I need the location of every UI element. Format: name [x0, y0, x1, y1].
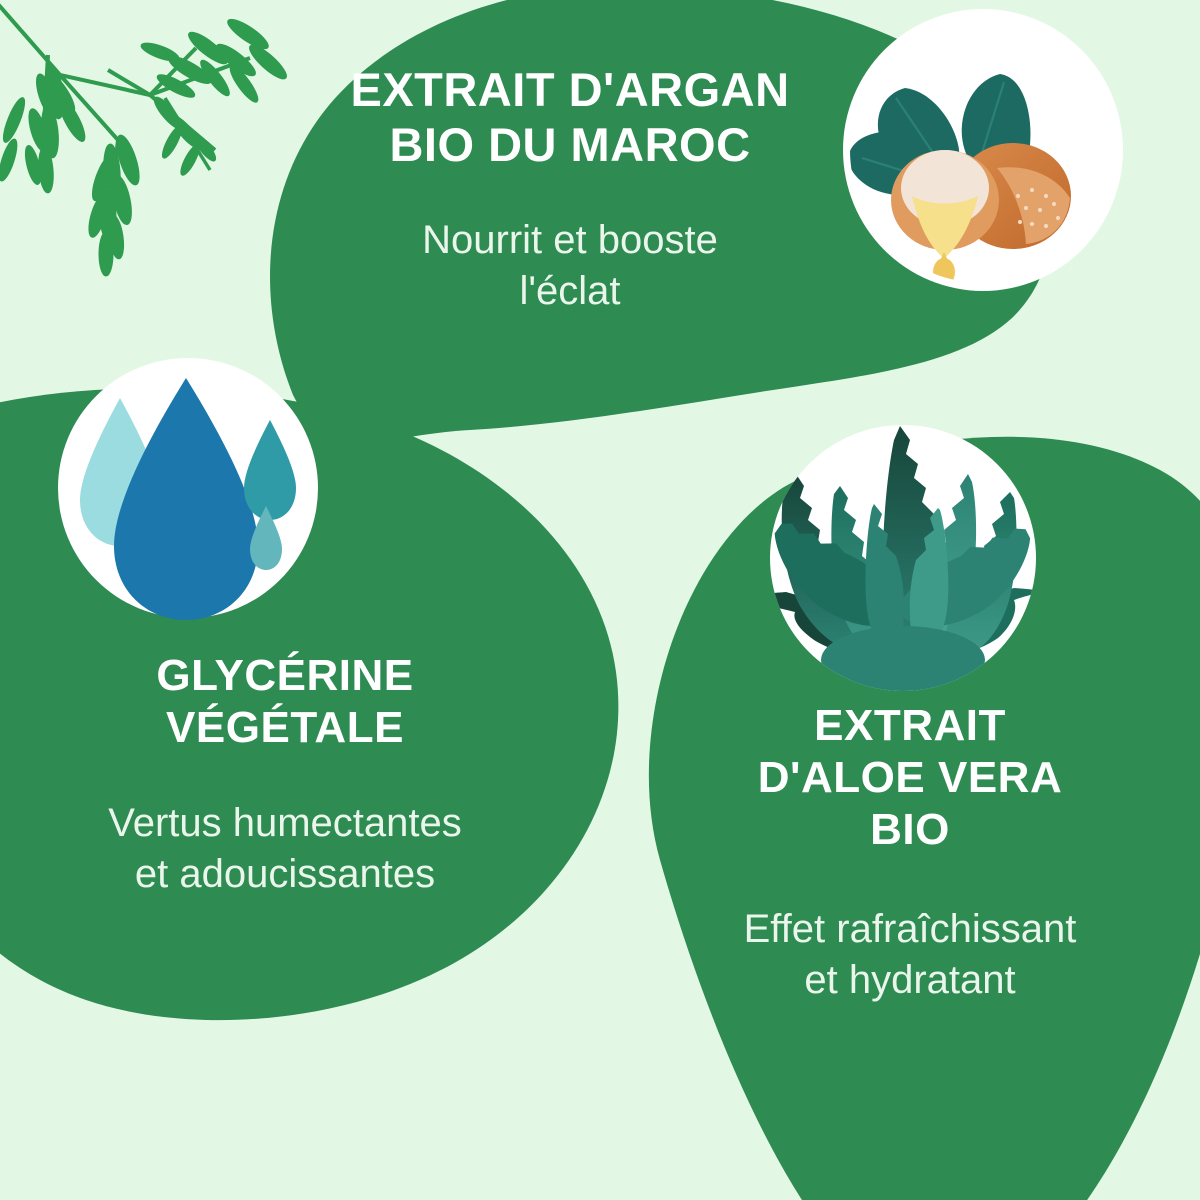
aloe-title-line-1: EXTRAIT	[814, 701, 1006, 750]
argan-subtitle-line-1: Nourrit et booste	[422, 218, 718, 262]
glycerine-subtitle-line-2: et adoucissantes	[135, 852, 435, 896]
aloe-title-line-2: D'ALOE VERA	[758, 753, 1062, 802]
argan-card-text: EXTRAIT D'ARGAN BIO DU MAROC Nourrit et …	[300, 62, 840, 317]
aloe-subtitle: Effet rafraîchissant et hydratant	[670, 904, 1150, 1006]
glycerine-title-line-2: VÉGÉTALE	[166, 703, 404, 752]
glycerine-title: GLYCÉRINE VÉGÉTALE	[45, 650, 525, 754]
argan-subtitle-line-2: l'éclat	[519, 269, 620, 313]
glycerine-subtitle: Vertus humectantes et adoucissantes	[45, 798, 525, 900]
aloe-title: EXTRAIT D'ALOE VERA BIO	[670, 700, 1150, 856]
glycerine-title-line-1: GLYCÉRINE	[156, 651, 413, 700]
aloe-card-text: EXTRAIT D'ALOE VERA BIO Effet rafraîchis…	[670, 700, 1150, 1006]
argan-title: EXTRAIT D'ARGAN BIO DU MAROC	[300, 62, 840, 173]
aloe-subtitle-line-2: et hydratant	[804, 958, 1015, 1002]
argan-title-line-1: EXTRAIT D'ARGAN	[350, 63, 789, 116]
aloe-title-line-3: BIO	[870, 805, 950, 854]
argan-subtitle: Nourrit et booste l'éclat	[300, 215, 840, 317]
glycerine-card-text: GLYCÉRINE VÉGÉTALE Vertus humectantes et…	[45, 650, 525, 900]
ingredients-poster: EXTRAIT D'ARGAN BIO DU MAROC Nourrit et …	[0, 0, 1200, 1200]
aloe-subtitle-line-1: Effet rafraîchissant	[744, 907, 1077, 951]
glycerine-subtitle-line-1: Vertus humectantes	[108, 801, 462, 845]
argan-title-line-2: BIO DU MAROC	[389, 118, 750, 171]
